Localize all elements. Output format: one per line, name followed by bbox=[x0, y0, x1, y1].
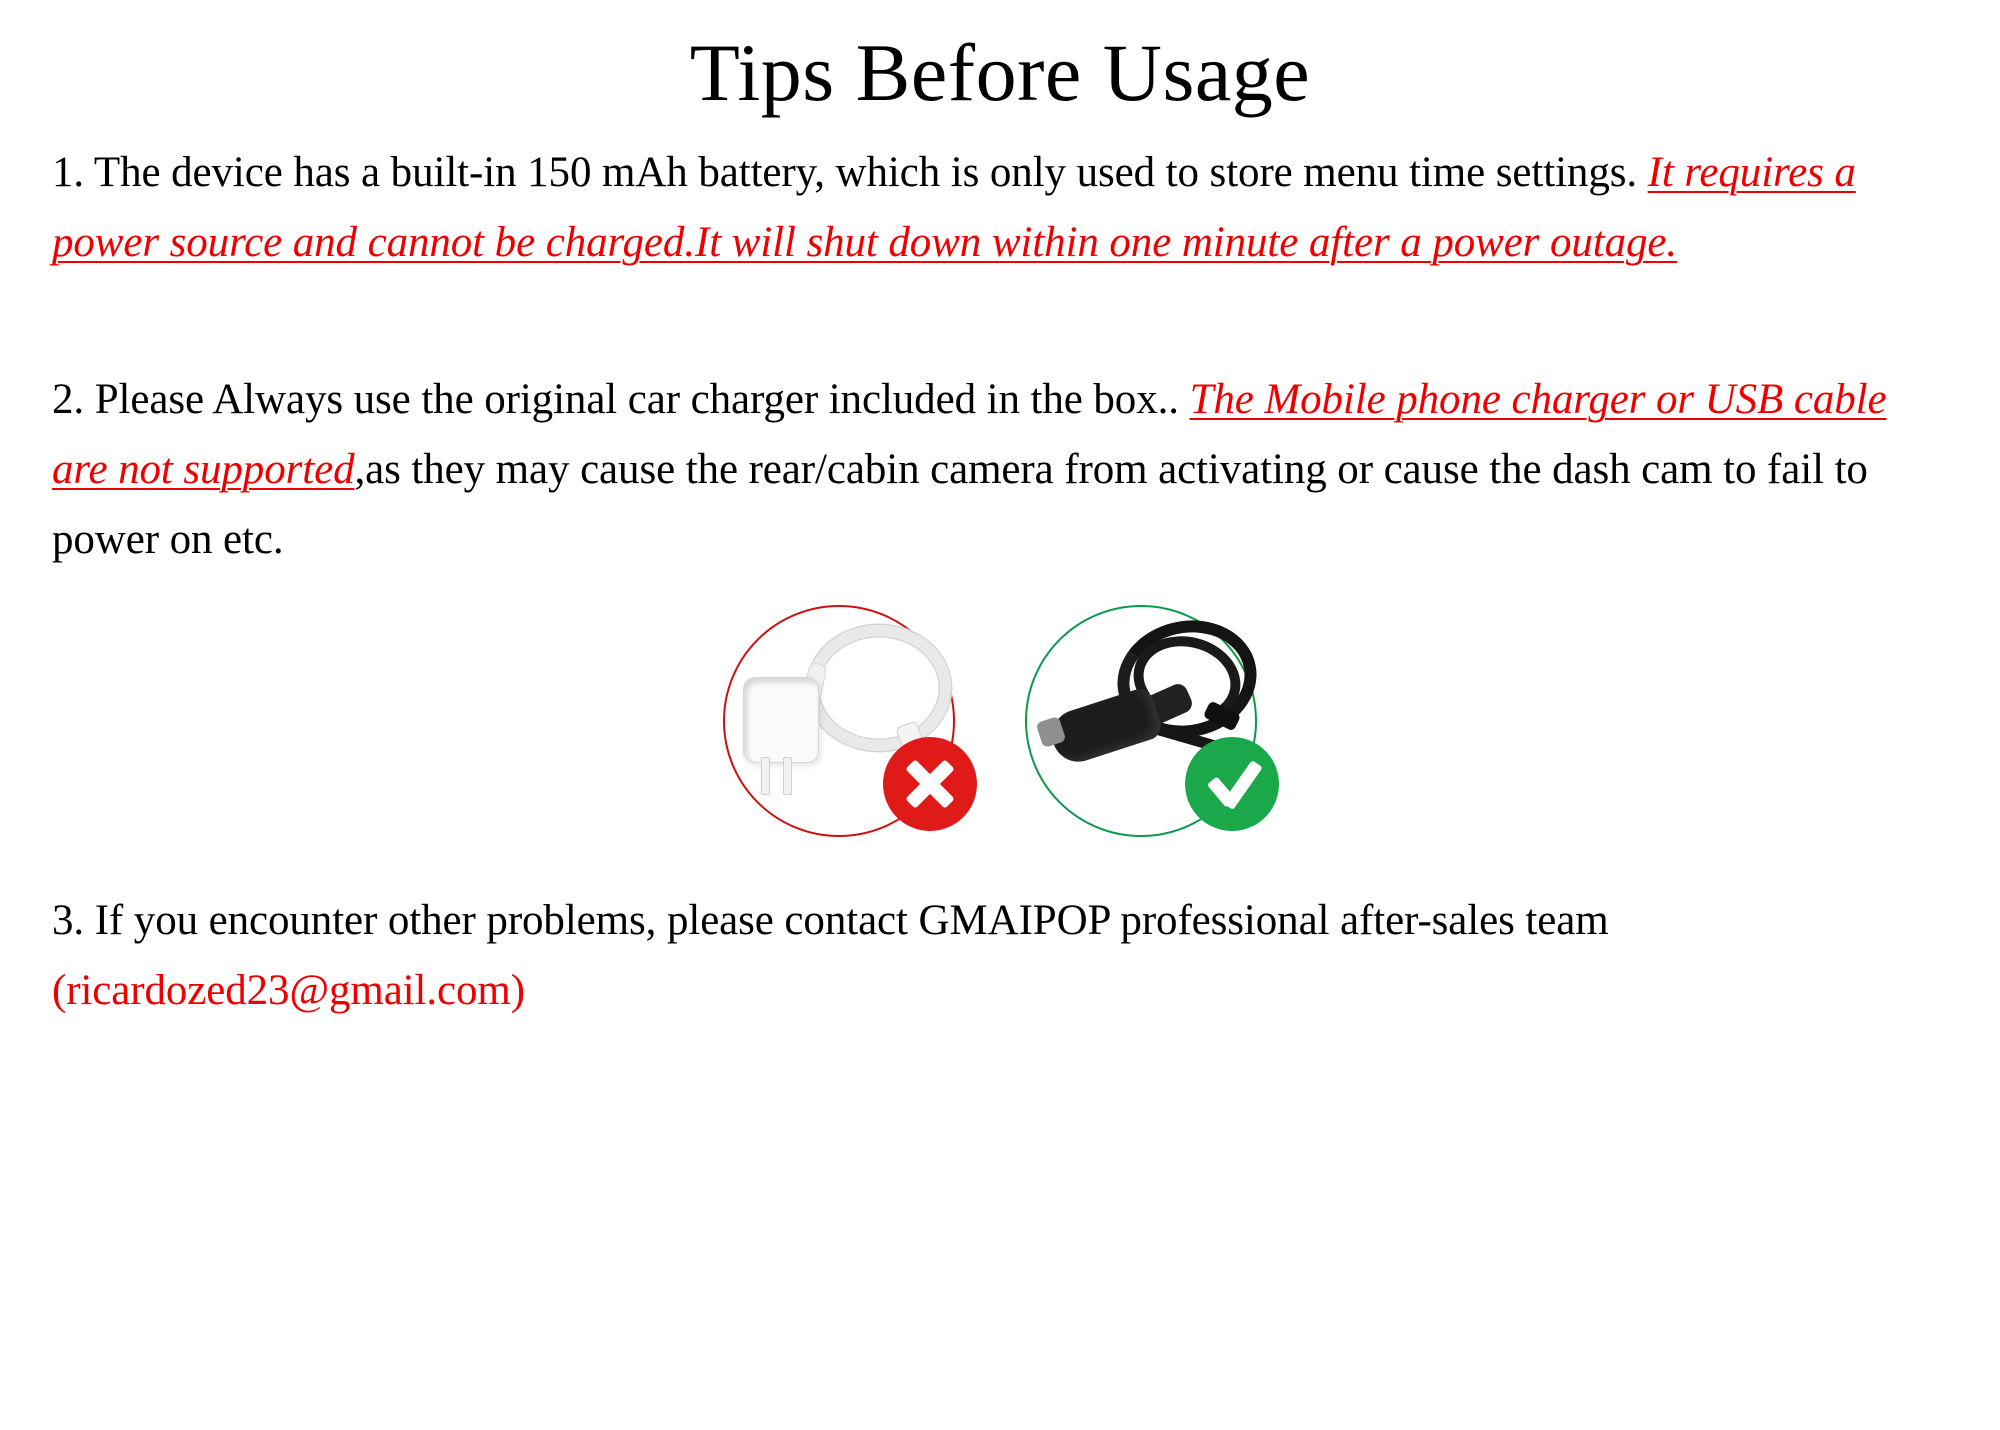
wall-charger-cable-coil bbox=[807, 625, 951, 751]
wall-charger-prong-left bbox=[761, 757, 770, 795]
tip-paragraph-3: 3. If you encounter other problems, plea… bbox=[52, 886, 1948, 1025]
tip-1-black-lead: 1. The device has a built-in 150 mAh bat… bbox=[52, 149, 1648, 196]
check-icon bbox=[1185, 737, 1279, 831]
page-title: Tips Before Usage bbox=[52, 30, 1948, 116]
support-email[interactable]: (ricardozed23@gmail.com) bbox=[52, 967, 525, 1014]
wall-charger-prong-right bbox=[783, 757, 792, 795]
charger-comparison-figure bbox=[52, 600, 1948, 850]
car-charger-figure bbox=[1017, 601, 1285, 849]
wall-charger-figure bbox=[715, 601, 983, 849]
wall-charger-brick bbox=[743, 677, 819, 763]
tip-paragraph-2: 2. Please Always use the original car ch… bbox=[52, 365, 1948, 574]
tip-2-black-lead: 2. Please Always use the original car ch… bbox=[52, 376, 1190, 423]
tip-3-black-lead: 3. If you encounter other problems, plea… bbox=[52, 897, 1609, 944]
check-glyph bbox=[1203, 755, 1261, 813]
document-page: Tips Before Usage 1. The device has a bu… bbox=[0, 30, 2000, 1430]
car-charger-body bbox=[1046, 686, 1165, 769]
cross-icon bbox=[883, 737, 977, 831]
cross-glyph bbox=[904, 758, 956, 810]
tip-paragraph-1: 1. The device has a built-in 150 mAh bat… bbox=[52, 138, 1948, 277]
